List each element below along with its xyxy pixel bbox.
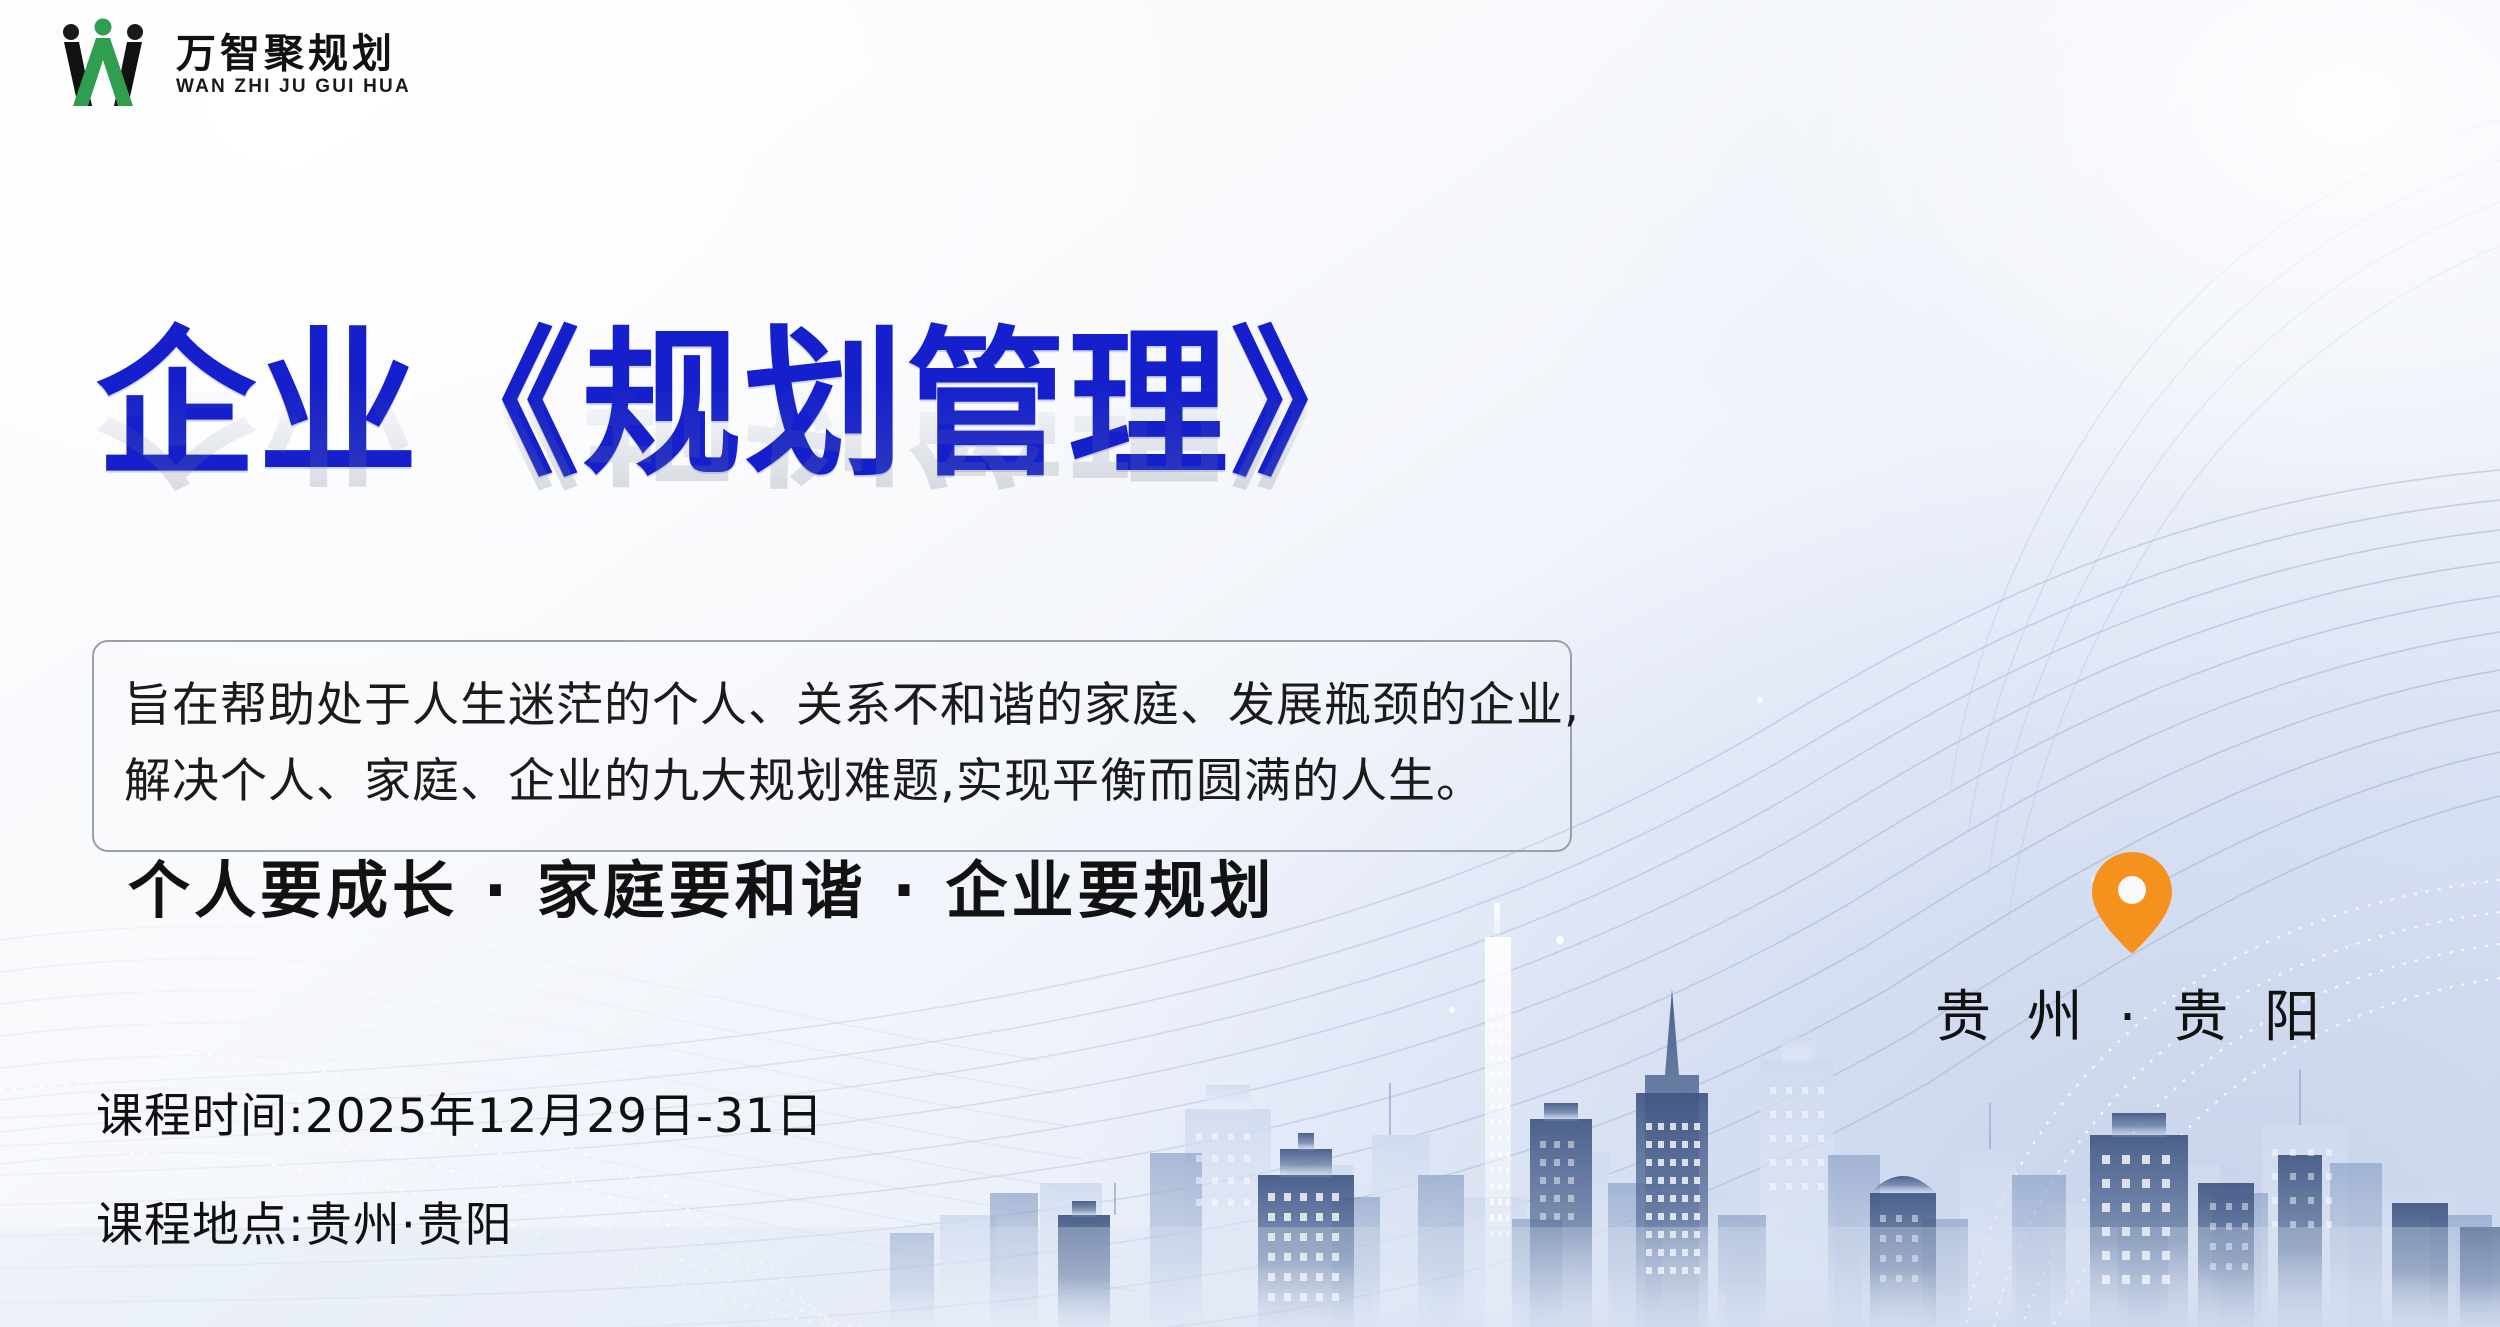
course-time: 课程时间:2025年12月29日-31日 bbox=[96, 1077, 824, 1146]
brand-text: 万智聚规划 WAN ZHI JU GUI HUA bbox=[176, 33, 411, 96]
course-place: 课程地点:贵州·贵阳 bbox=[96, 1186, 824, 1255]
location-marker: 贵 州 · 贵 阳 bbox=[1935, 850, 2329, 1053]
poster-canvas: 万智聚规划 WAN ZHI JU GUI HUA 企业《规划管理》 企业《规划管… bbox=[0, 0, 2500, 1327]
description-line-1: 旨在帮助处于人生迷茫的个人、关系不和谐的家庭、发展瓶颈的企业, bbox=[124, 668, 1540, 744]
three-people-m-logo-icon bbox=[48, 18, 158, 110]
location-label: 贵 州 · 贵 阳 bbox=[1935, 972, 2329, 1053]
description-line-2: 解决个人、家庭、企业的九大规划难题,实现平衡而圆满的人生。 bbox=[124, 744, 1540, 820]
brand-name-cn: 万智聚规划 bbox=[176, 33, 411, 75]
brand-logo: 万智聚规划 WAN ZHI JU GUI HUA bbox=[48, 18, 411, 110]
description-box: 旨在帮助处于人生迷茫的个人、关系不和谐的家庭、发展瓶颈的企业, 解决个人、家庭、… bbox=[92, 640, 1572, 852]
location-pin-icon bbox=[2090, 850, 2174, 954]
headline-block: 企业《规划管理》 企业《规划管理》 bbox=[96, 320, 1696, 610]
page-title-reflection: 企业《规划管理》 bbox=[96, 374, 1696, 492]
brand-name-pinyin: WAN ZHI JU GUI HUA bbox=[176, 77, 411, 96]
tagline: 个人要成长 · 家庭要和谐 · 企业要规划 bbox=[128, 840, 1275, 930]
course-info: 课程时间:2025年12月29日-31日 课程地点:贵州·贵阳 bbox=[96, 1077, 824, 1255]
